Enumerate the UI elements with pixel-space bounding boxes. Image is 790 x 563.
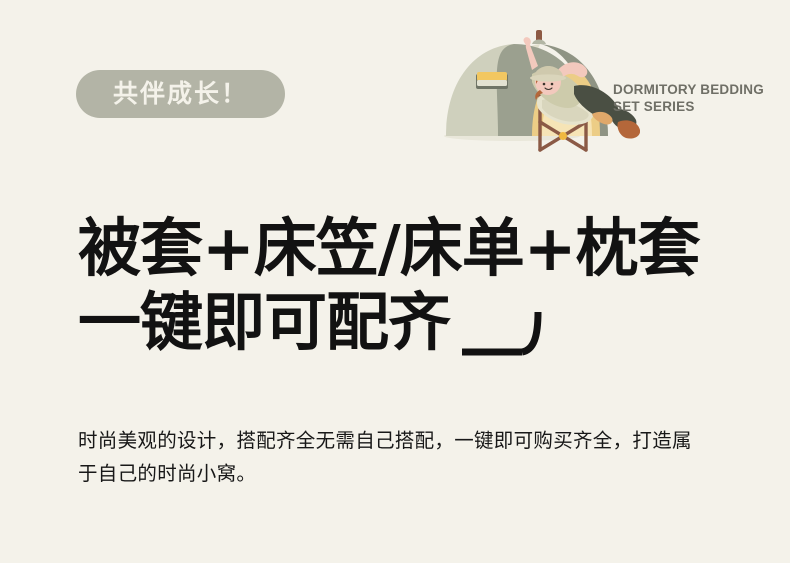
body-copy: 时尚美观的设计，搭配齐全无需自己搭配，一键即可购买齐全，打造属于自己的时尚小窝。: [78, 424, 703, 490]
growth-badge: 共伴成长！: [76, 70, 285, 118]
series-caption-line-2: SET SERIES: [613, 98, 788, 115]
headline-line-2: 一键即可配齐: [78, 286, 450, 360]
headline: 被套+床笠/床单+枕套 一键即可配齐: [78, 212, 738, 360]
camping-tent-illustration: [440, 18, 640, 173]
underline-hook-flourish-icon: [460, 302, 552, 354]
series-caption-line-1: DORMITORY BEDDING: [613, 81, 788, 98]
headline-line-1: 被套+床笠/床单+枕套: [78, 212, 738, 286]
headline-line-2-row: 一键即可配齐: [78, 286, 738, 360]
promo-banner: 共伴成长！: [0, 0, 790, 563]
growth-badge-label: 共伴成长！: [113, 82, 248, 107]
series-caption: DORMITORY BEDDING SET SERIES: [613, 81, 788, 115]
